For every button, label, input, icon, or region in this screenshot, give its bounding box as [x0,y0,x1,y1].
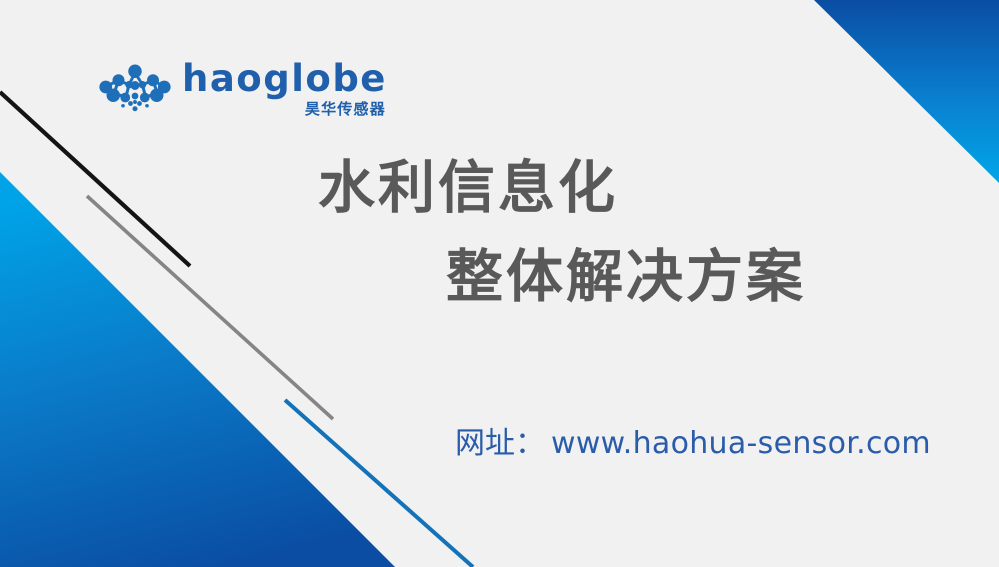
page-title: 水利信息化 整体解决方案 [0,160,880,306]
company-logo: haoglobe 昊华传感器 [96,58,387,118]
page-title-line-2: 整体解决方案 [0,249,880,306]
page-title-line-1: 水利信息化 [0,160,880,217]
website-url[interactable]: www.haohua-sensor.com [551,426,931,461]
logo-wordmark: haoglobe [182,60,387,97]
website-label: 网址： [455,418,545,462]
haoglobe-network-logo-icon [96,62,174,118]
website-line: 网址： www.haohua-sensor.com [455,418,931,462]
logo-subtitle: 昊华传感器 [305,102,386,117]
blue-diagonal-line [285,400,473,567]
top-right-triangle [814,0,999,183]
presentation-title-slide: haoglobe 昊华传感器 水利信息化 整体解决方案 网址： www.haoh… [0,0,999,567]
